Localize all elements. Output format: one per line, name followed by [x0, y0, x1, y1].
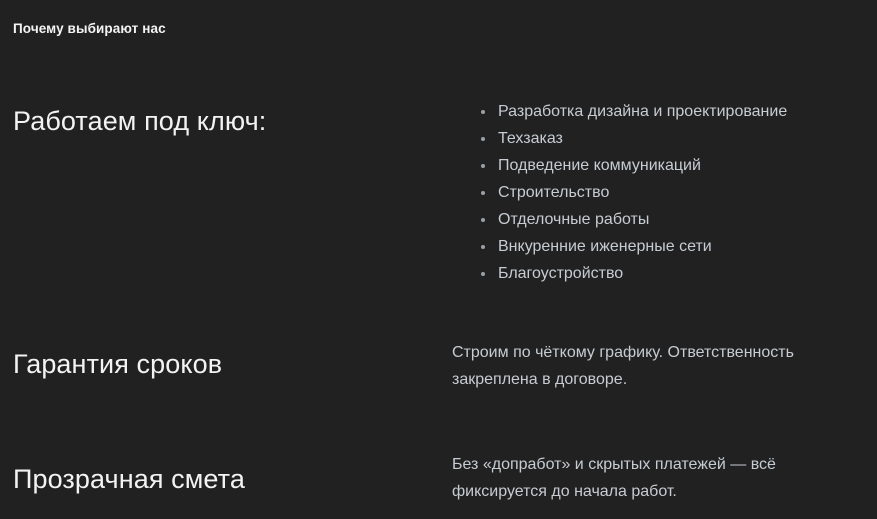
- section-eyebrow-label: Почему выбирают нас: [13, 20, 166, 38]
- list-item: Подведение коммуникаций: [480, 152, 877, 179]
- benefit-title-turnkey: Работаем под ключ:: [0, 84, 437, 138]
- list-item: Техзаказ: [480, 125, 877, 152]
- list-item: Строительство: [480, 179, 877, 206]
- benefit-body-deadline: Строим по чёткому графику. Ответственнос…: [437, 304, 877, 393]
- benefit-title-deadline: Гарантия сроков: [0, 304, 437, 381]
- benefit-row-estimate: Прозрачная смета Без «допработ» и скрыты…: [0, 419, 877, 519]
- list-item: Разработка дизайна и проектирование: [480, 98, 877, 125]
- benefit-body-estimate: Без «допработ» и скрытых платежей — всё …: [437, 419, 877, 505]
- bullet-dot-icon: [481, 137, 485, 141]
- list-item-label: Отделочные работы: [498, 211, 649, 228]
- benefits-rows: Работаем под ключ: Разработка дизайна и …: [0, 84, 877, 519]
- list-item-label: Разработка дизайна и проектирование: [498, 103, 787, 120]
- list-item-label: Подведение коммуникаций: [498, 157, 701, 174]
- benefit-description-deadline: Строим по чёткому графику. Ответственнос…: [452, 339, 861, 393]
- bullet-dot-icon: [481, 272, 485, 276]
- list-item: Отделочные работы: [480, 206, 877, 233]
- benefit-body-turnkey: Разработка дизайна и проектирование Техз…: [437, 84, 877, 287]
- list-item-label: Внкуренние иженерные сети: [498, 238, 712, 255]
- bullet-dot-icon: [481, 218, 485, 222]
- benefit-description-estimate: Без «допработ» и скрытых платежей — всё …: [452, 451, 837, 505]
- benefit-row-deadline: Гарантия сроков Строим по чёткому график…: [0, 304, 877, 419]
- benefit-row-turnkey: Работаем под ключ: Разработка дизайна и …: [0, 84, 877, 304]
- list-item-label: Техзаказ: [498, 130, 563, 147]
- list-item-label: Благоустройство: [498, 265, 623, 282]
- list-item: Внкуренние иженерные сети: [480, 233, 877, 260]
- bullet-dot-icon: [481, 245, 485, 249]
- list-item-label: Строительство: [498, 184, 609, 201]
- list-item: Благоустройство: [480, 260, 877, 287]
- turnkey-service-list: Разработка дизайна и проектирование Техз…: [480, 98, 877, 287]
- bullet-dot-icon: [481, 110, 485, 114]
- bullet-dot-icon: [481, 164, 485, 168]
- bullet-dot-icon: [481, 191, 485, 195]
- slide-root: Почему выбирают нас Работаем под ключ: Р…: [0, 0, 877, 503]
- benefit-title-estimate: Прозрачная смета: [0, 419, 437, 496]
